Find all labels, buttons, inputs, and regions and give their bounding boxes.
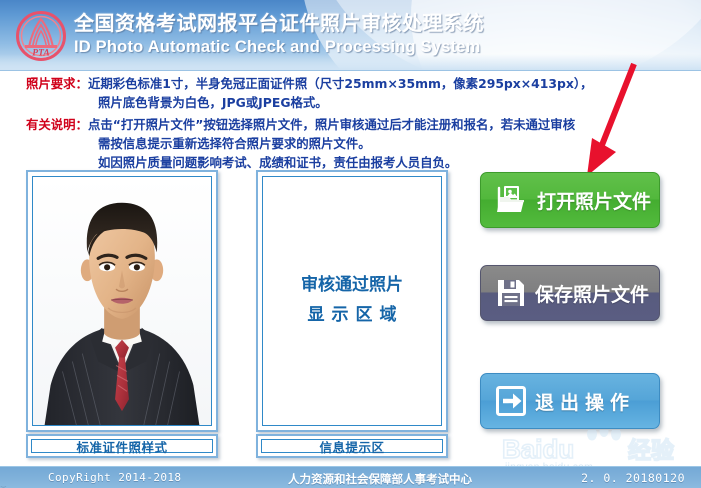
logo-text: PTA xyxy=(32,49,49,59)
app-footer: CopyRight 2014-2018 人力资源和社会保障部人事考试中心 2. … xyxy=(0,466,701,488)
app-title-group: 全国资格考试网报平台证件照片审核处理系统 ID Photo Automatic … xyxy=(74,10,484,58)
info-message-frame: 信息提示区 xyxy=(261,439,443,453)
save-photo-file-label: 保存照片文件 xyxy=(535,280,649,307)
open-photo-file-label: 打开照片文件 xyxy=(537,187,651,214)
instructions-block: 照片要求： 近期彩色标准1寸，半身免冠正面证件照（尺寸25mm×35mm，像素2… xyxy=(26,74,676,172)
pta-circular-emblem-icon: PTA xyxy=(16,11,66,61)
open-photo-file-button[interactable]: 打开照片文件 xyxy=(480,172,660,228)
usage-notes-text-1: 点击“打开照片文件”按钮选择照片文件，照片审核通过后才能注册和报名，若未通过审核 xyxy=(88,115,575,134)
info-message-label: 信息提示区 xyxy=(319,437,384,456)
watermark-brand-cn-text: 经验 xyxy=(628,437,674,464)
floppy-disk-save-icon xyxy=(495,277,527,309)
sample-photo-panel xyxy=(26,170,218,432)
photo-requirements-line-1: 照片要求： 近期彩色标准1寸，半身免冠正面证件照（尺寸25mm×35mm，像素2… xyxy=(26,74,676,93)
sample-photo-frame xyxy=(32,176,212,426)
watermark-paw-icon xyxy=(587,430,621,441)
approved-photo-preview-area[interactable]: 审核通过照片 显示区域 xyxy=(262,176,442,426)
preview-placeholder-line-1: 审核通过照片 xyxy=(263,270,441,300)
approved-photo-preview-panel[interactable]: 审核通过照片 显示区域 xyxy=(256,170,448,432)
usage-notes-label: 有关说明： xyxy=(26,115,88,134)
exit-arrow-box-icon xyxy=(495,385,527,417)
app-header: PTA 全国资格考试网报平台证件照片审核处理系统 ID Photo Automa… xyxy=(0,0,701,71)
footer-organization: 人力资源和社会保障部人事考试中心 xyxy=(288,471,472,487)
sample-photo-caption: 标准证件照样式 xyxy=(26,434,218,458)
preview-placeholder-line-2: 显示区域 xyxy=(263,300,441,330)
info-message-area: 信息提示区 xyxy=(256,434,448,458)
footer-copyright: CopyRight 2014-2018 xyxy=(48,471,181,484)
sample-photo-caption-label: 标准证件照样式 xyxy=(76,437,167,456)
usage-notes-text-2: 需按信息提示重新选择符合照片要求的照片文件。 xyxy=(26,134,676,153)
usage-notes-block: 有关说明： 点击“打开照片文件”按钮选择照片文件，照片审核通过后才能注册和报名，… xyxy=(26,115,676,172)
application-window: PTA 全国资格考试网报平台证件照片审核处理系统 ID Photo Automa… xyxy=(0,0,701,488)
open-photo-folder-icon xyxy=(495,183,529,217)
preview-placeholder-text: 审核通过照片 显示区域 xyxy=(263,270,441,330)
photo-requirements-block: 照片要求： 近期彩色标准1寸，半身免冠正面证件照（尺寸25mm×35mm，像素2… xyxy=(26,74,676,112)
usage-notes-line-1: 有关说明： 点击“打开照片文件”按钮选择照片文件，照片审核通过后才能注册和报名，… xyxy=(26,115,676,134)
footer-version: 2. 0. 20180120 xyxy=(581,471,685,485)
sample-id-photo-image xyxy=(33,177,211,425)
app-title-en: ID Photo Automatic Check and Processing … xyxy=(74,36,484,58)
window-corner-marker: ‿ xyxy=(1,479,9,487)
app-title-cn: 全国资格考试网报平台证件照片审核处理系统 xyxy=(74,10,484,36)
sample-photo-caption-frame: 标准证件照样式 xyxy=(31,439,213,453)
save-photo-file-button[interactable]: 保存照片文件 xyxy=(480,265,660,321)
photo-requirements-label: 照片要求： xyxy=(26,74,88,93)
photo-requirements-text-2: 照片底色背景为白色，JPG或JPEG格式。 xyxy=(26,93,676,112)
exit-label: 退出操作 xyxy=(535,388,635,415)
exit-button[interactable]: 退出操作 xyxy=(480,373,660,429)
watermark-brand-text: Baidu xyxy=(502,434,574,464)
photo-requirements-text-1: 近期彩色标准1寸，半身免冠正面证件照（尺寸25mm×35mm，像素295px×4… xyxy=(88,74,593,93)
